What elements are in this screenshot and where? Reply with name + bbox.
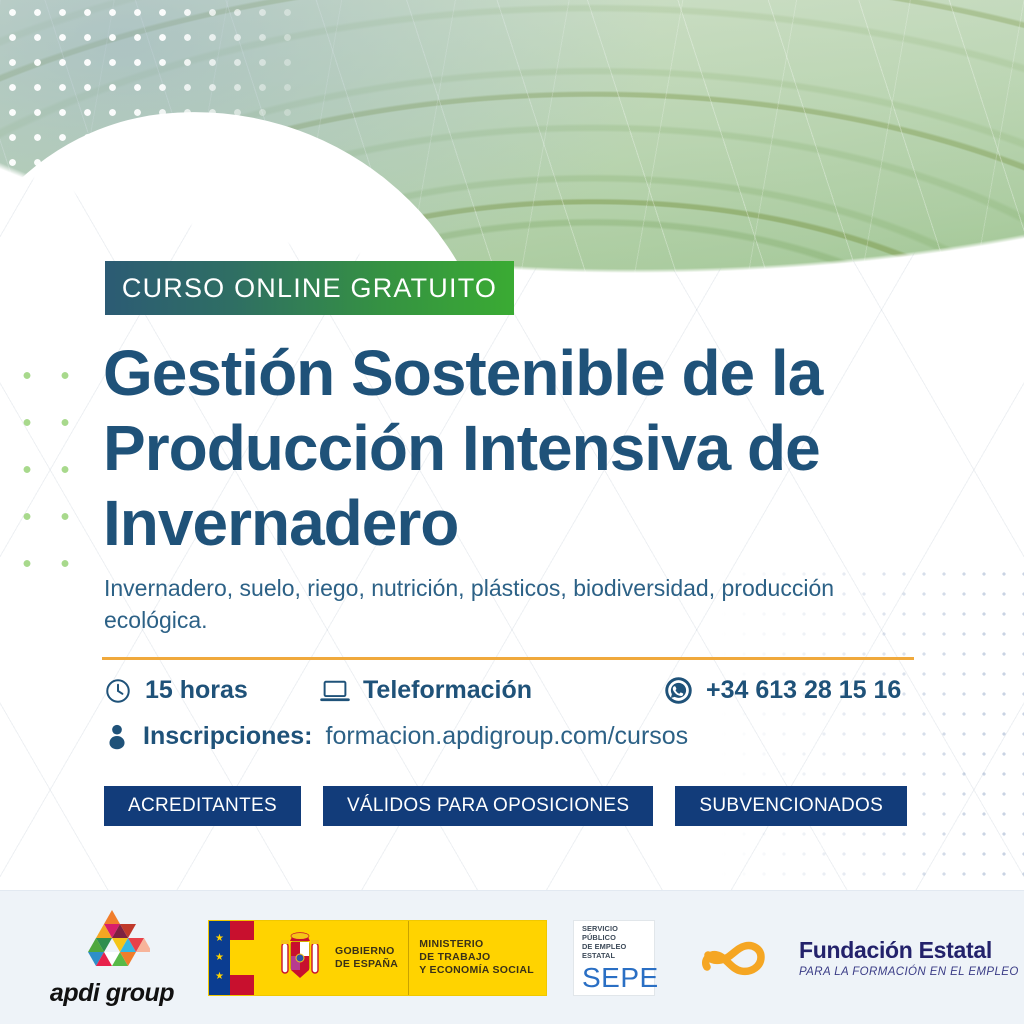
spain-flag-strip <box>230 921 254 995</box>
course-info-row: 15 horas Teleformación <box>104 676 954 716</box>
tag-subvencionados[interactable]: SUBVENCIONADOS <box>675 786 907 826</box>
contact-phone[interactable]: +34 613 28 15 16 <box>664 676 901 705</box>
ministerio-line1: MINISTERIO <box>419 938 534 951</box>
user-icon <box>104 723 130 751</box>
gobierno-line1: GOBIERNO <box>335 945 398 958</box>
spain-eu-flag-icon: ★ ★ ★ <box>209 921 269 995</box>
course-tags: ACREDITANTES VÁLIDOS PARA OPOSICIONES SU… <box>104 786 907 826</box>
course-subtitle: Invernadero, suelo, riego, nutrición, pl… <box>104 572 904 636</box>
page-title: Gestión Sostenible de la Producción Inte… <box>103 336 983 561</box>
whatsapp-icon[interactable] <box>664 676 693 705</box>
gobierno-text: GOBIERNO DE ESPAÑA <box>331 921 409 995</box>
sepe-line1: SERVICIO PÚBLICO <box>582 924 646 942</box>
sepe-logo: SERVICIO PÚBLICO DE EMPLEO ESTATAL SEPE <box>573 920 655 996</box>
course-duration-label: 15 horas <box>145 676 248 705</box>
fundacion-name: Fundación Estatal <box>799 937 1019 964</box>
gobierno-de-espana-logo: ★ ★ ★ <box>208 920 547 996</box>
orange-divider <box>102 657 914 660</box>
footer-logo-strip: apdi group ★ ★ ★ <box>0 890 1024 1024</box>
laptop-icon <box>320 677 350 705</box>
ministerio-text: MINISTERIO DE TRABAJO Y ECONOMÍA SOCIAL <box>409 921 546 995</box>
sepe-acronym: SEPE <box>582 964 659 992</box>
registration-row[interactable]: Inscripciones: formacion.apdigroup.com/c… <box>104 722 688 751</box>
course-modality-label: Teleformación <box>363 676 532 705</box>
apdi-triangle-logo <box>74 908 150 975</box>
fundacion-tagline: PARA LA FORMACIÓN EN EL EMPLEO <box>799 966 1019 978</box>
course-poster: CURSO ONLINE GRATUITO Gestión Sostenible… <box>0 0 1024 1024</box>
fundacion-estatal-logo: Fundación Estatal PARA LA FORMACIÓN EN E… <box>695 927 1019 988</box>
badge-label: CURSO ONLINE GRATUITO <box>122 273 497 304</box>
registration-label: Inscripciones: <box>143 722 313 751</box>
clock-icon <box>104 677 132 705</box>
gobierno-line2: DE ESPAÑA <box>335 958 398 971</box>
poster-content: CURSO ONLINE GRATUITO Gestión Sostenible… <box>0 0 1024 886</box>
contact-phone-label: +34 613 28 15 16 <box>706 676 901 705</box>
sepe-line2: DE EMPLEO ESTATAL <box>582 942 646 960</box>
course-modality: Teleformación <box>320 676 532 705</box>
eu-flag-strip: ★ ★ ★ <box>209 921 230 995</box>
tag-validos-oposiciones[interactable]: VÁLIDOS PARA OPOSICIONES <box>323 786 653 826</box>
course-duration: 15 horas <box>104 676 248 705</box>
course-type-badge: CURSO ONLINE GRATUITO <box>105 261 514 315</box>
apdi-group-name: apdi group <box>50 979 174 1008</box>
registration-url[interactable]: formacion.apdigroup.com/cursos <box>326 722 689 751</box>
spain-coat-of-arms-icon <box>269 921 331 995</box>
tag-acreditantes[interactable]: ACREDITANTES <box>104 786 301 826</box>
apdi-group-logo: apdi group <box>42 908 182 1008</box>
fundacion-swirl-icon <box>695 927 787 988</box>
ministerio-line3: Y ECONOMÍA SOCIAL <box>419 964 534 977</box>
ministerio-line2: DE TRABAJO <box>419 951 534 964</box>
